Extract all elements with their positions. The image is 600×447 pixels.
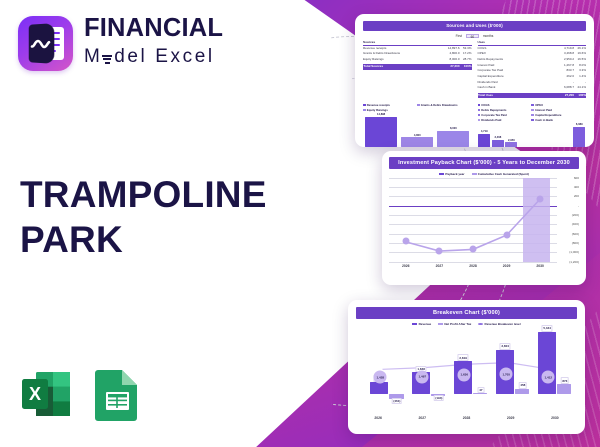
- legend-item: Interest Paid: [531, 108, 581, 112]
- legend-item: COGS: [478, 103, 528, 107]
- payback-body: 600400200-(200)(400)(600)(800)(1,000)(1,…: [389, 178, 579, 262]
- uses-rows: COGS 4,719.8 26.1% OPEX 3,468.8 19.6% De…: [478, 46, 587, 92]
- x-axis-tick: 2028: [463, 416, 471, 420]
- bar: [478, 134, 490, 147]
- bar-value-label: 2,950: [508, 139, 515, 142]
- data-point: [402, 238, 409, 245]
- breakeven-level-bubble: 1,497: [416, 370, 429, 383]
- sources-uses-tables: Sources Revenue receipts 14,897.6 53.3% …: [363, 40, 586, 98]
- bar-value-label: 3,468: [494, 136, 501, 139]
- sources-chart-plot: 14,898 4,800 8,000: [363, 113, 472, 147]
- legend-item: OPEX: [531, 103, 581, 107]
- row-name: Equity Raisings: [363, 57, 444, 63]
- legend-label: Cash in Bank: [535, 118, 553, 122]
- breakeven-level-bubble: 1,705: [500, 368, 513, 381]
- bar-column: 3,468: [492, 123, 504, 147]
- bar-column: 14,898: [365, 113, 397, 147]
- legend-swatch-icon: [531, 114, 534, 117]
- legend-label: Net Profit After Tax: [444, 322, 471, 326]
- legend-label: Debts Repayments: [481, 108, 506, 112]
- y-axis-tick: 400: [574, 185, 579, 189]
- svg-text:X: X: [29, 384, 41, 404]
- legend-swatch-icon: [363, 104, 366, 107]
- brand-title: FINANCIAL: [84, 16, 223, 42]
- legend-swatch-icon: [412, 323, 417, 325]
- sources-total-row: Total Sources 27,200 100%: [363, 64, 472, 70]
- breakeven-card[interactable]: Breakeven Chart ($'000) Revenue Net Prof…: [348, 300, 585, 434]
- data-point: [436, 247, 443, 254]
- legend-item: Equity Raisings: [363, 108, 413, 112]
- bar-value-label: 4,719: [481, 130, 488, 133]
- financial-model-excel-logo-icon: [18, 16, 73, 71]
- uses-table: Uses COGS 4,719.8 26.1% OPEX 3,468.8 19.…: [478, 40, 587, 98]
- net-profit-bar: [515, 389, 529, 394]
- breakeven-x-axis: 20262027202820292030: [356, 416, 577, 420]
- legend-label: Grants & Debts Drawdowns: [421, 103, 458, 107]
- legend-label: Revenue Breakeven level: [485, 322, 521, 326]
- page-title-line1: TRAMPOLINE: [20, 172, 267, 217]
- bar: [505, 142, 517, 147]
- wave-line-icon: [30, 38, 51, 50]
- bar-value-label: 6,089: [576, 123, 583, 126]
- legend-label: Equity Raisings: [367, 108, 388, 112]
- x-axis-tick: 2027: [419, 416, 427, 420]
- legend-swatch-icon: [478, 104, 481, 107]
- breakeven-level-bubble: 1,412: [542, 371, 555, 384]
- legend-swatch-icon: [531, 104, 534, 107]
- y-axis-tick: (200): [572, 213, 579, 217]
- breakeven-title: Breakeven Chart ($'000): [356, 307, 577, 319]
- poster-canvas: FINANCIAL M del Excel TRAMPOLINE PARK X: [0, 0, 600, 447]
- bar-column: 262: [546, 123, 558, 147]
- brand-subtitle: M del Excel: [84, 45, 223, 69]
- sources-uses-title: Sources and Uses ($'000): [363, 21, 586, 31]
- period-selector[interactable]: First 60 months: [363, 34, 586, 38]
- legend-label: Payback year: [445, 172, 464, 176]
- period-input[interactable]: 60: [466, 34, 479, 38]
- row-pct: 28.7%: [460, 57, 472, 63]
- y-axis-tick: (1,200): [569, 260, 579, 264]
- legend-swatch-icon: [531, 109, 534, 112]
- legend-item: Revenue: [412, 322, 431, 326]
- period-label-right: months: [483, 34, 493, 38]
- y-axis-tick: (600): [572, 232, 579, 236]
- page-title: TRAMPOLINE PARK: [20, 172, 267, 262]
- y-axis-tick: 200: [574, 194, 579, 198]
- payback-y-axis: 600400200-(200)(400)(600)(800)(1,000)(1,…: [557, 178, 579, 262]
- net-profit-value-label: 47: [477, 387, 484, 394]
- legend-label: COGS: [481, 103, 489, 107]
- google-sheets-icon[interactable]: [94, 367, 141, 421]
- y-axis-tick: -: [578, 204, 579, 208]
- breakeven-level-bubble: 1,636: [458, 368, 471, 381]
- gridline: [389, 262, 557, 263]
- bar-column: 4,800: [401, 113, 433, 147]
- net-profit-value-label: 873: [561, 377, 570, 384]
- uses-total-row: Total Uses 27,200 100%: [478, 93, 587, 99]
- legend-swatch-icon: [439, 173, 444, 175]
- revenue-value-label: 5,344: [542, 325, 553, 332]
- legend-label: Dividends Paid: [481, 118, 501, 122]
- legend-label: OPEX: [535, 103, 543, 107]
- data-point: [503, 231, 510, 238]
- uses-chart-plot: 4,719 3,468 2,950 1,268 833 262 - 6,089: [478, 123, 587, 147]
- y-axis-tick: 600: [574, 176, 579, 180]
- legend-item: Cumulative Cash Generated (Spent): [472, 172, 529, 176]
- breakeven-plot: 1,048 (461) 1,428 1,848 (194) 1,497 2,81…: [356, 329, 577, 413]
- uses-total-value: 27,200: [558, 93, 574, 99]
- legend-item: Cash in Bank: [531, 118, 581, 122]
- bar: [437, 131, 469, 147]
- legend-item: Capital Expenditure: [531, 113, 581, 117]
- payback-legend: Payback year Cumulative Cash Generated (…: [389, 172, 579, 176]
- legend-swatch-icon: [438, 323, 443, 325]
- bar-value-label: 14,898: [377, 113, 385, 116]
- uses-total-label: Total Uses: [478, 93, 559, 99]
- legend-swatch-icon: [472, 173, 477, 175]
- legend-item: Corporate Tax Paid: [478, 113, 528, 117]
- legend-item: Revenue receipts: [363, 103, 413, 107]
- net-profit-value-label: (461): [392, 398, 403, 405]
- net-profit-value-label: 458: [519, 382, 528, 389]
- bar-column: 4,719: [478, 123, 490, 147]
- legend-label: Capital Expenditure: [535, 113, 561, 117]
- brand-lockup: FINANCIAL M del Excel: [18, 16, 223, 71]
- sources-table: Sources Revenue receipts 14,897.6 53.3% …: [363, 40, 472, 98]
- legend-swatch-icon: [363, 109, 366, 112]
- x-axis-tick: 2029: [503, 264, 511, 268]
- microsoft-excel-icon[interactable]: X: [20, 367, 72, 421]
- row-value: 6,088.7: [558, 85, 574, 91]
- revenue-value-label: 3,804: [500, 343, 511, 350]
- uses-total-pct: 100%: [574, 93, 586, 99]
- breakeven-level-bubble: 1,428: [374, 371, 387, 384]
- net-profit-bar: [473, 393, 487, 394]
- legend-item: Dividends Paid: [478, 118, 528, 122]
- sources-chart-legend: Revenue receipts Grants & Debts Drawdown…: [363, 103, 472, 112]
- brand-subtitle-pre: M: [84, 45, 102, 69]
- bar: [573, 127, 585, 147]
- bar-value-label: 4,800: [414, 134, 421, 137]
- payback-x-axis: 20262027202820292030: [389, 264, 579, 268]
- sources-rows: Revenue receipts 14,897.6 53.3% Grants &…: [363, 46, 472, 63]
- net-profit-bar: [557, 384, 571, 394]
- uses-chart-legend: COGS OPEX Debts Repayments Interest Paid…: [478, 103, 587, 122]
- x-axis-tick: 2026: [374, 416, 382, 420]
- x-axis-tick: 2027: [436, 264, 444, 268]
- table-row: Equity Raisings 8,000.0 28.7%: [363, 57, 472, 63]
- legend-swatch-icon: [417, 104, 420, 107]
- bar: [401, 137, 433, 147]
- brand-text: FINANCIAL M del Excel: [84, 16, 223, 70]
- brand-subtitle-post: del Excel: [114, 45, 215, 69]
- legend-swatch-icon: [478, 114, 481, 117]
- bar-column: -: [560, 123, 572, 147]
- y-axis-tick: (1,000): [569, 250, 579, 254]
- x-axis-tick: 2029: [507, 416, 515, 420]
- sources-chart: Revenue receipts Grants & Debts Drawdown…: [363, 100, 472, 147]
- bar-value-label: 8,000: [450, 127, 457, 130]
- bar-column: 1,268: [519, 123, 531, 147]
- revenue-bar: [538, 332, 556, 395]
- y-axis-tick: (800): [572, 241, 579, 245]
- sources-uses-charts: Revenue receipts Grants & Debts Drawdown…: [363, 100, 586, 147]
- bar-column: 6,089: [573, 123, 585, 147]
- payback-plot: [389, 178, 557, 262]
- bar: [492, 140, 504, 147]
- file-format-icons: X: [20, 367, 141, 421]
- legend-label: Revenue: [419, 322, 432, 326]
- legend-swatch-icon: [478, 323, 483, 325]
- row-value: 8,000.0: [444, 57, 460, 63]
- sources-total-label: Total Sources: [363, 64, 444, 70]
- page-title-line2: PARK: [20, 217, 267, 262]
- legend-swatch-icon: [478, 109, 481, 112]
- legend-label: Cumulative Cash Generated (Spent): [478, 172, 529, 176]
- x-axis-tick: 2028: [469, 264, 477, 268]
- legend-label: Revenue receipts: [367, 103, 390, 107]
- bar: [365, 117, 397, 147]
- data-point: [537, 195, 544, 202]
- legend-label: Interest Paid: [535, 108, 552, 112]
- net-profit-value-label: (194): [434, 395, 445, 402]
- bar-column: 2,950: [505, 123, 517, 147]
- bar-column: 833: [533, 123, 545, 147]
- revenue-value-label: 2,819: [458, 354, 469, 361]
- table-row: Cash in Bank 6,088.7 24.1%: [478, 85, 587, 91]
- legend-label: Corporate Tax Paid: [481, 113, 506, 117]
- sources-and-uses-card[interactable]: Sources and Uses ($'000) First 60 months…: [355, 14, 594, 147]
- x-axis-tick: 2030: [551, 416, 559, 420]
- sources-total-pct: 100%: [460, 64, 472, 70]
- legend-item: Grants & Debts Drawdowns: [417, 103, 467, 107]
- row-name: Cash in Bank: [478, 85, 559, 91]
- payback-title: Investment Payback Chart ($'000) - 5 Yea…: [389, 157, 579, 169]
- x-axis-tick: 2026: [402, 264, 410, 268]
- legend-item: Debts Repayments: [478, 108, 528, 112]
- data-point: [470, 245, 477, 252]
- row-pct: 24.1%: [574, 85, 586, 91]
- legend-swatch-icon: [531, 119, 534, 122]
- uses-chart: COGS OPEX Debts Repayments Interest Paid…: [478, 100, 587, 147]
- x-axis-tick: 2030: [536, 264, 544, 268]
- legend-item: Revenue Breakeven level: [478, 322, 520, 326]
- legend-swatch-icon: [478, 119, 481, 122]
- legend-item: Payback year: [439, 172, 464, 176]
- bar-column: 8,000: [437, 113, 469, 147]
- period-label-left: First: [456, 34, 462, 38]
- y-axis-tick: (400): [572, 222, 579, 226]
- sources-total-value: 27,200: [444, 64, 460, 70]
- legend-item: Net Profit After Tax: [438, 322, 471, 326]
- investment-payback-card[interactable]: Investment Payback Chart ($'000) - 5 Yea…: [382, 151, 586, 285]
